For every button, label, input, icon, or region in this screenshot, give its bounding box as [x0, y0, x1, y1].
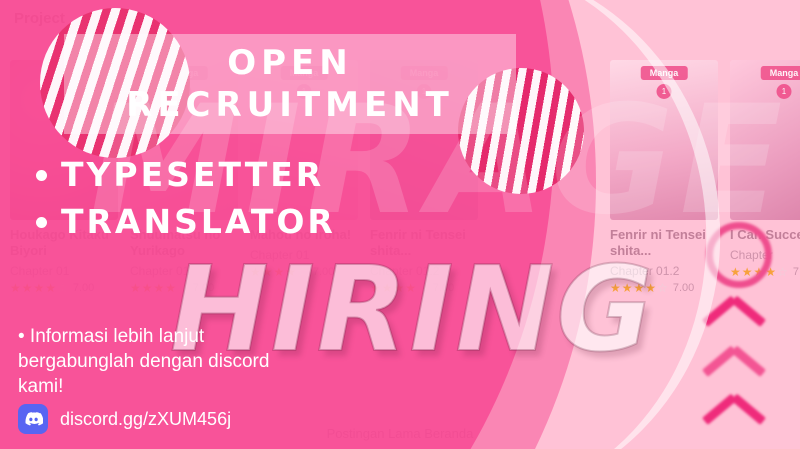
type-badge: Manga	[641, 66, 688, 80]
star-empty-icon: ☆	[57, 281, 68, 295]
site-title: Project	[0, 0, 800, 38]
manga-chapter[interactable]: Chapter 01	[130, 264, 238, 278]
manga-title[interactable]: Houkago Kitaku Biyori	[10, 227, 118, 259]
star-icon: ★	[382, 281, 393, 295]
manga-site-background: Project Manga 1 Houkago Kitaku Biyori Ch…	[0, 0, 800, 449]
chapter-chip: 1	[657, 84, 672, 99]
manga-cover[interactable]: Manga 1	[130, 60, 238, 220]
star-empty-icon: ☆	[177, 281, 188, 295]
rating-value: 7.00	[793, 266, 800, 278]
manga-rating: ★ ★ ★ ★ ☆ 7.00	[370, 281, 478, 295]
star-half-icon: ★	[285, 265, 296, 279]
star-icon: ★	[274, 265, 285, 279]
star-icon: ★	[622, 281, 633, 295]
star-icon: ★	[610, 281, 621, 295]
manga-card[interactable]: Manga 1 Mahou no Iroha! Chapter 01 ★ ★ ★…	[250, 60, 358, 295]
star-icon: ★	[34, 281, 45, 295]
type-badge: Manga	[161, 66, 208, 80]
manga-cover[interactable]: Manga 1	[730, 60, 800, 220]
star-half-icon: ★	[405, 281, 416, 295]
type-badge: Manga	[281, 66, 328, 80]
manga-chapter[interactable]: Chapter 01.2	[370, 264, 478, 278]
star-half-icon: ★	[45, 281, 56, 295]
rating-value: 7.00	[193, 282, 214, 294]
manga-card[interactable]: Manga 1 Houkago Kitaku Biyori Chapter 01…	[10, 60, 118, 295]
card-row-top: Manga 1 Houkago Kitaku Biyori Chapter 01…	[10, 60, 478, 295]
star-icon: ★	[22, 281, 33, 295]
rating-value: 7.00	[433, 282, 454, 294]
chapter-chip: 1	[57, 84, 72, 99]
type-badge: Manga	[761, 66, 800, 80]
manga-cover[interactable]: Manga 1	[250, 60, 358, 220]
type-badge: Manga	[41, 66, 88, 80]
manga-title[interactable]: Mahou no Iroha!	[250, 227, 358, 243]
star-empty-icon: ☆	[657, 281, 668, 295]
manga-rating: ★ ★ ★ ★ ☆ 7.00	[10, 281, 118, 295]
chapter-chip: 1	[417, 84, 432, 99]
chapter-chip: 1	[177, 84, 192, 99]
chapter-chip: 1	[777, 84, 792, 99]
star-half-icon: ★	[165, 281, 176, 295]
manga-rating: ★ ★ ★ ★ ☆ 7.00	[130, 281, 238, 295]
star-icon: ★	[370, 281, 381, 295]
manga-chapter[interactable]: Chapter 01	[10, 264, 118, 278]
manga-cover[interactable]: Manga 1	[10, 60, 118, 220]
manga-card[interactable]: Manga 1 Shuumatsu no Yurikago Chapter 01…	[130, 60, 238, 295]
chapter-chip: 1	[297, 84, 312, 99]
star-icon: ★	[250, 265, 261, 279]
manga-cover[interactable]: Manga 1	[370, 60, 478, 220]
footer-nav[interactable]: Postingan Lama Beranda	[0, 426, 800, 441]
manga-title[interactable]: Shuumatsu no Yurikago	[130, 227, 238, 259]
star-icon: ★	[10, 281, 21, 295]
star-empty-icon: ☆	[417, 281, 428, 295]
star-icon: ★	[262, 265, 273, 279]
back-to-top-button[interactable]	[688, 222, 788, 444]
manga-cover[interactable]: Manga 1	[610, 60, 718, 220]
star-icon: ★	[142, 281, 153, 295]
star-icon: ★	[154, 281, 165, 295]
type-badge: Manga	[401, 66, 448, 80]
manga-title[interactable]: Fenrir ni Tensei shita...	[370, 227, 478, 259]
circle-icon	[706, 222, 772, 288]
star-icon: ★	[130, 281, 141, 295]
rating-value: 7.00	[73, 282, 94, 294]
star-empty-icon: ☆	[297, 265, 308, 279]
manga-chapter[interactable]: Chapter 01	[250, 248, 358, 262]
rating-value: 7.00	[313, 266, 334, 278]
star-half-icon: ★	[645, 281, 656, 295]
manga-card[interactable]: Manga 1 Fenrir ni Tensei shita... Chapte…	[370, 60, 478, 295]
manga-rating: ★ ★ ★ ★ ☆ 7.00	[250, 265, 358, 279]
star-icon: ★	[394, 281, 405, 295]
star-icon: ★	[634, 281, 645, 295]
